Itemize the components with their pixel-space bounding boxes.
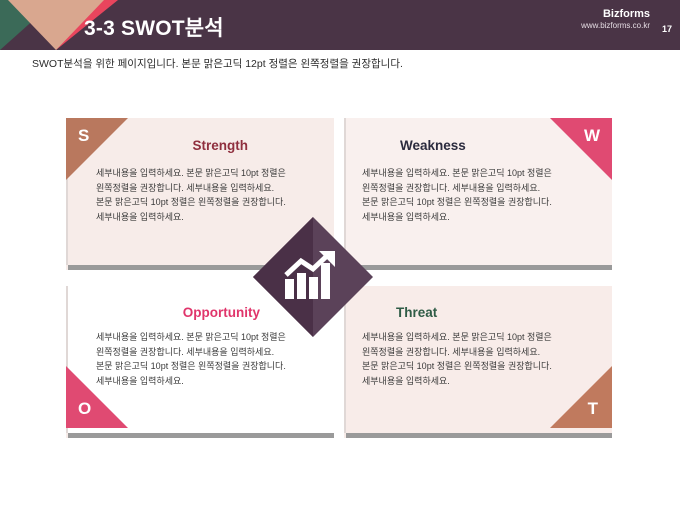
swot-body-weakness: 세부내용을 입력하세요. 본문 맑은고딕 10pt 정렬은 왼쪽정렬을 권장합니…	[362, 166, 558, 224]
swot-letter-threat: T	[588, 399, 598, 419]
brand-block: Bizforms www.bizforms.co.kr	[581, 8, 650, 30]
swot-title-strength: Strength	[193, 138, 249, 153]
swot-card-weakness-body-area: W Weakness 세부내용을 입력하세요. 본문 맑은고딕 10pt 정렬은…	[344, 118, 612, 265]
swot-card-threat[interactable]: T Threat 세부내용을 입력하세요. 본문 맑은고딕 10pt 정렬은 왼…	[344, 286, 612, 438]
swot-title-threat: Threat	[396, 305, 437, 320]
swot-letter-weakness: W	[584, 126, 600, 146]
page-title: 3-3 SWOT분석	[84, 12, 224, 42]
swot-body-strength: 세부내용을 입력하세요. 본문 맑은고딕 10pt 정렬은 왼쪽정렬을 권장합니…	[96, 166, 292, 224]
brand-name: Bizforms	[581, 8, 650, 21]
growth-bar-chart-arrow-icon	[283, 249, 343, 301]
corner-triangle-threat	[550, 366, 612, 428]
corner-triangle-weakness	[550, 118, 612, 180]
card-bottom-shadow	[346, 433, 612, 438]
swot-letter-strength: S	[78, 126, 89, 146]
page-number: 17	[662, 24, 672, 34]
brand-url: www.bizforms.co.kr	[581, 21, 650, 30]
swot-card-threat-body-area: T Threat 세부내용을 입력하세요. 본문 맑은고딕 10pt 정렬은 왼…	[344, 286, 612, 433]
slide-canvas: 3-3 SWOT분석 Bizforms www.bizforms.co.kr 1…	[0, 0, 680, 510]
swot-body-threat: 세부내용을 입력하세요. 본문 맑은고딕 10pt 정렬은 왼쪽정렬을 권장합니…	[362, 330, 558, 388]
slide-subtitle: SWOT분석을 위한 페이지입니다. 본문 맑은고딕 12pt 정렬은 왼쪽정렬…	[32, 56, 403, 71]
center-diamond	[253, 217, 373, 337]
swot-letter-opportunity: O	[78, 399, 91, 419]
slide-header: 3-3 SWOT분석 Bizforms www.bizforms.co.kr 1…	[0, 0, 680, 50]
swot-title-opportunity: Opportunity	[183, 305, 260, 320]
card-bottom-shadow	[346, 265, 612, 270]
card-bottom-shadow	[68, 433, 334, 438]
swot-card-weakness[interactable]: W Weakness 세부내용을 입력하세요. 본문 맑은고딕 10pt 정렬은…	[344, 118, 612, 270]
swot-body-opportunity: 세부내용을 입력하세요. 본문 맑은고딕 10pt 정렬은 왼쪽정렬을 권장합니…	[96, 330, 292, 388]
swot-title-weakness: Weakness	[400, 138, 466, 153]
